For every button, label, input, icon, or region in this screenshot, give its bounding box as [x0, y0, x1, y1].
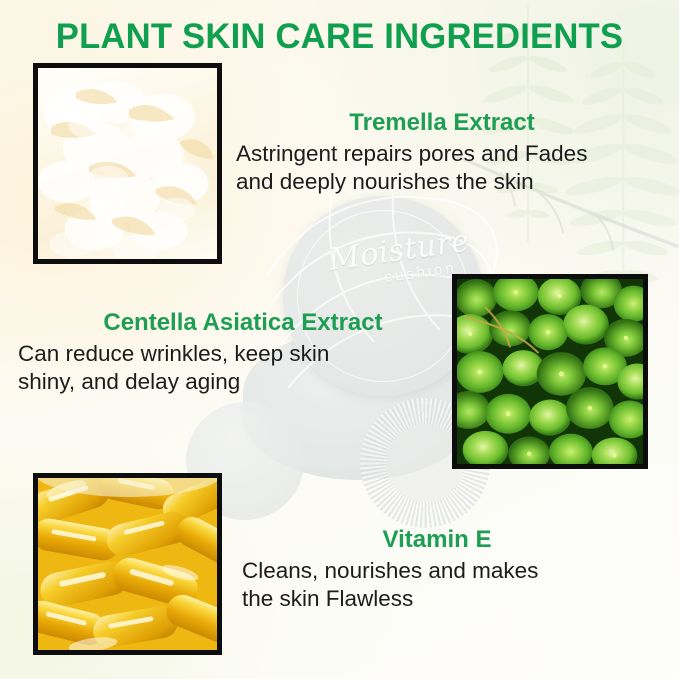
centella-asiatica-leaves-photo: [457, 279, 643, 464]
ingredient-body-line: Can reduce wrinkles, keep skin: [18, 340, 438, 368]
vitamine-photo-frame: [33, 473, 222, 655]
ingredient-body-tremella: Astringent repairs pores and Fades and d…: [236, 140, 666, 197]
page-title: PLANT SKIN CARE INGREDIENTS: [3, 17, 675, 57]
ingredient-body-line: the skin Flawless: [242, 585, 662, 613]
ingredient-heading-tremella: Tremella Extract: [236, 110, 666, 137]
ingredient-heading-vitamine: Vitamin E: [242, 527, 662, 554]
ingredient-heading-centella: Centella Asiatica Extract: [18, 310, 438, 337]
ingredient-block-vitamine: Vitamin E Cleans, nourishes and makes th…: [242, 527, 662, 614]
ingredient-body-line: shiny, and delay aging: [18, 368, 438, 396]
ingredient-body-line: Cleans, nourishes and makes: [242, 557, 662, 585]
ingredient-body-line: and deeply nourishes the skin: [236, 168, 666, 196]
ingredient-body-vitamine: Cleans, nourishes and makes the skin Fla…: [242, 557, 662, 614]
tremella-photo-frame: [33, 63, 222, 264]
ingredient-body-centella: Can reduce wrinkles, keep skin shiny, an…: [18, 340, 438, 397]
poster-canvas: Moisture cushion PLANT SKIN CARE INGREDI…: [0, 0, 679, 679]
ingredient-body-line: Astringent repairs pores and Fades: [236, 140, 666, 168]
centella-photo-frame: [452, 274, 648, 469]
vitamin-e-capsules-photo: [38, 478, 217, 650]
tremella-white-fungus-photo: [38, 68, 217, 259]
ingredient-block-tremella: Tremella Extract Astringent repairs pore…: [236, 110, 666, 197]
ingredient-block-centella: Centella Asiatica Extract Can reduce wri…: [18, 310, 438, 397]
